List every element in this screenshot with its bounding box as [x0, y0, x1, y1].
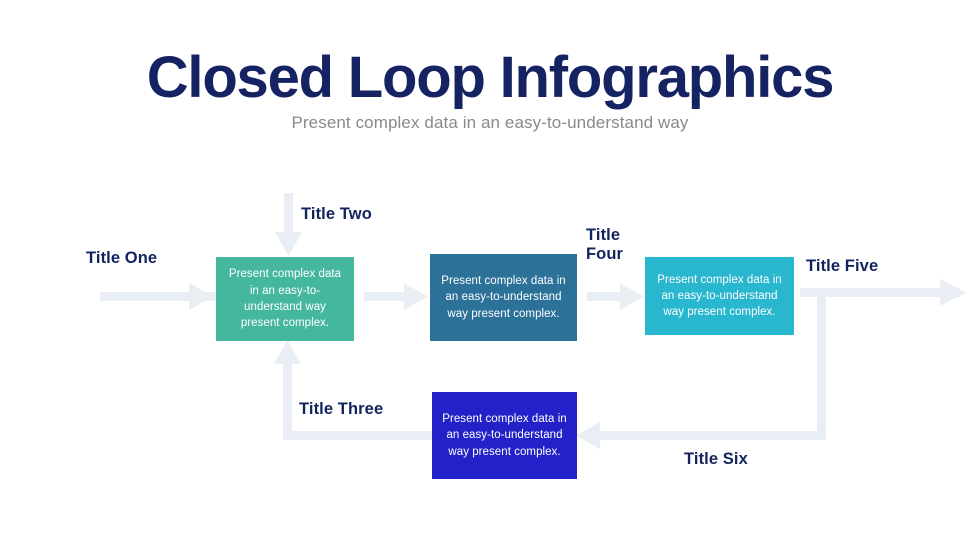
arrow-title-two [275, 193, 302, 256]
step-label-title-one: Title One [86, 249, 157, 268]
step-label-title-four: Title Four [586, 226, 646, 265]
process-box-2[interactable]: Present complex data in an easy-to-under… [430, 254, 577, 341]
arrow-title-three [274, 340, 433, 440]
step-label-title-three: Title Three [299, 400, 383, 419]
infographic-canvas: Closed Loop Infographics Present complex… [0, 0, 980, 551]
process-box-1[interactable]: Present complex data in an easy-to-under… [216, 257, 354, 341]
arrow-title-one [100, 283, 218, 310]
process-box-1-text: Present complex data in an easy-to-under… [226, 266, 344, 331]
arrow-title-four [587, 283, 644, 310]
process-box-3[interactable]: Present complex data in an easy-to-under… [645, 257, 794, 335]
page-subtitle: Present complex data in an easy-to-under… [0, 113, 980, 133]
process-box-2-text: Present complex data in an easy-to-under… [440, 273, 567, 322]
arrow-node1-node2 [364, 283, 428, 310]
process-box-4[interactable]: Present complex data in an easy-to-under… [432, 392, 577, 479]
process-box-4-text: Present complex data in an easy-to-under… [442, 411, 567, 460]
page-title: Closed Loop Infographics [0, 48, 980, 109]
process-box-3-text: Present complex data in an easy-to-under… [655, 272, 784, 321]
step-label-title-five: Title Five [806, 257, 878, 276]
step-label-title-six: Title Six [684, 450, 748, 469]
arrow-title-five [800, 279, 966, 306]
step-label-title-two: Title Two [301, 205, 372, 224]
